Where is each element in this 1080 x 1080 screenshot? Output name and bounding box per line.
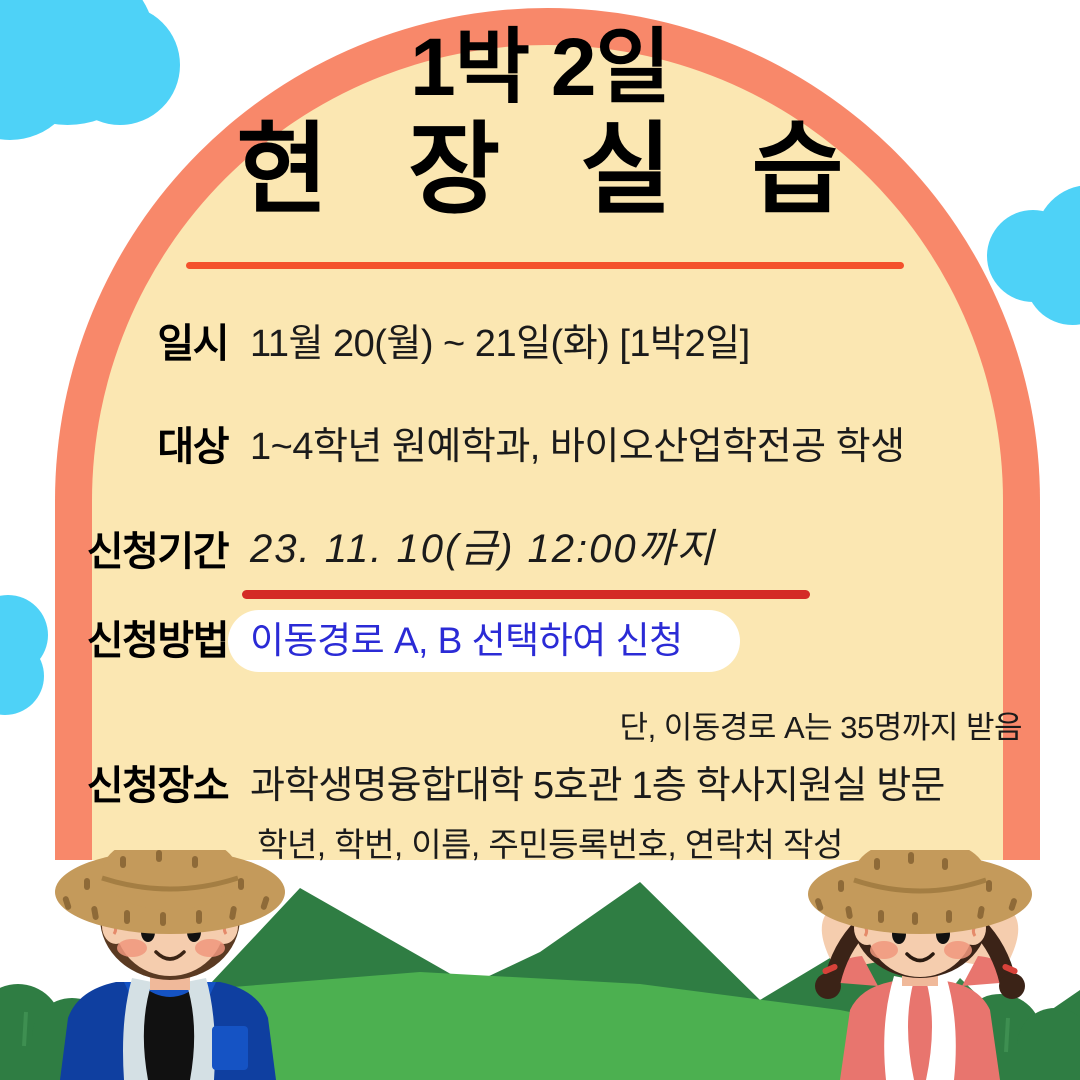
info-row-date: 일시 11월 20(월) ~ 21일(화) [1박2일] <box>0 296 1080 392</box>
info-label-date: 일시 <box>0 321 228 367</box>
title-line-1: 1박 2일 <box>0 22 1080 114</box>
info-row-method: 신청방법 이동경로 A, B 선택하여 신청 <box>0 602 1080 680</box>
poster-content: 1박 2일 현 장 실 습 일시 11월 20(월) ~ 21일(화) [1박2… <box>0 0 1080 1080</box>
info-row-place: 신청장소 과학생명융합대학 5호관 1층 학사지원실 방문 <box>0 756 1080 816</box>
info-value-method: 이동경로 A, B 선택하여 신청 <box>250 620 683 661</box>
info-label-method: 신청방법 <box>0 618 228 664</box>
info-value-target: 1~4학년 원예학과, 바이오산업학전공 학생 <box>228 424 905 470</box>
capacity-note: 단, 이동경로 A는 35명까지 받음 <box>0 702 1022 747</box>
info-value-place: 과학생명융합대학 5호관 1층 학사지원실 방문 <box>228 763 945 809</box>
title-line-2: 현 장 실 습 <box>0 114 1080 226</box>
info-value-period: 23. 11. 10(금) 12:00까지 <box>228 526 715 578</box>
place-sub-note: 학년, 학번, 이름, 주민등록번호, 연락처 작성 <box>0 818 1080 866</box>
info-row-period: 신청기간 23. 11. 10(금) 12:00까지 <box>0 502 1080 602</box>
method-highlight-pill: 이동경로 A, B 선택하여 신청 <box>250 618 683 664</box>
title-divider <box>186 262 904 269</box>
info-label-place: 신청장소 <box>0 763 228 809</box>
info-label-target: 대상 <box>0 424 228 470</box>
info-rows: 일시 11월 20(월) ~ 21일(화) [1박2일] 대상 1~4학년 원예… <box>0 296 1080 680</box>
info-value-date: 11월 20(월) ~ 21일(화) [1박2일] <box>228 321 750 367</box>
poster-title: 1박 2일 현 장 실 습 <box>0 22 1080 226</box>
period-underline <box>242 590 810 599</box>
info-label-period: 신청기간 <box>0 529 228 575</box>
poster-canvas: 1박 2일 현 장 실 습 일시 11월 20(월) ~ 21일(화) [1박2… <box>0 0 1080 1080</box>
info-row-target: 대상 1~4학년 원예학과, 바이오산업학전공 학생 <box>0 392 1080 502</box>
info-value-method-wrap: 이동경로 A, B 선택하여 신청 <box>228 618 683 664</box>
